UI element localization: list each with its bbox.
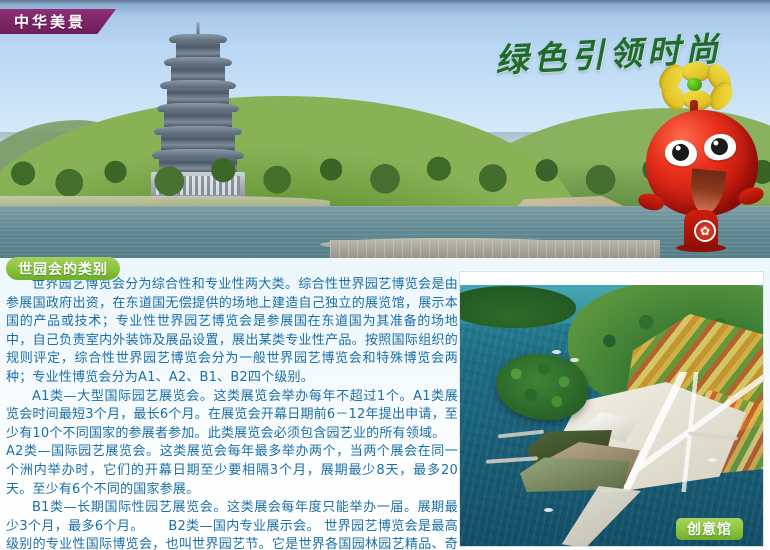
- article-body: 世界园艺博览会分为综合性和专业性两大类。综合性世界园艺博览会是由参展国政府出资，…: [6, 276, 458, 544]
- flower-center: [687, 78, 702, 91]
- boat-3: [708, 458, 717, 462]
- mascot-figure: [638, 62, 766, 250]
- aerial-render-image: [459, 271, 764, 547]
- paragraph-2: A1类—大型国际园艺展览会。这类展览会举办每年不超过1个。A1类展览会时间最短3…: [6, 388, 458, 444]
- mascot-emblem-icon: [694, 220, 716, 242]
- page-title-banner: 中华美景: [0, 9, 116, 34]
- page-title: 中华美景: [14, 11, 86, 32]
- boat-2: [570, 358, 579, 362]
- section-badge-label: 世园会的类别: [18, 259, 108, 279]
- paragraph-1: 世界园艺博览会分为综合性和专业性两大类。综合性世界园艺博览会是由参展国政府出资，…: [6, 276, 458, 388]
- aerial-caption-label: 创意馆: [687, 519, 732, 539]
- boat-1: [552, 350, 561, 354]
- mascot-feet: [676, 244, 726, 252]
- waterfront-plaza: [330, 240, 660, 258]
- aerial-caption-badge: 创意馆: [676, 518, 743, 540]
- image-top-margin: [460, 272, 763, 285]
- paragraph-3: A2类—国际园艺展览会。这类展览会每年最多举办两个，当两个展会在同一个洲内举办时…: [6, 443, 458, 499]
- paragraph-4: B1类—长期国际性园艺展览会。这类展会每年度只能举办一届。展期最少3个月，最多6…: [6, 499, 458, 550]
- top-island: [459, 286, 576, 328]
- section-badge: 世园会的类别: [6, 257, 120, 280]
- boat-4: [544, 508, 553, 512]
